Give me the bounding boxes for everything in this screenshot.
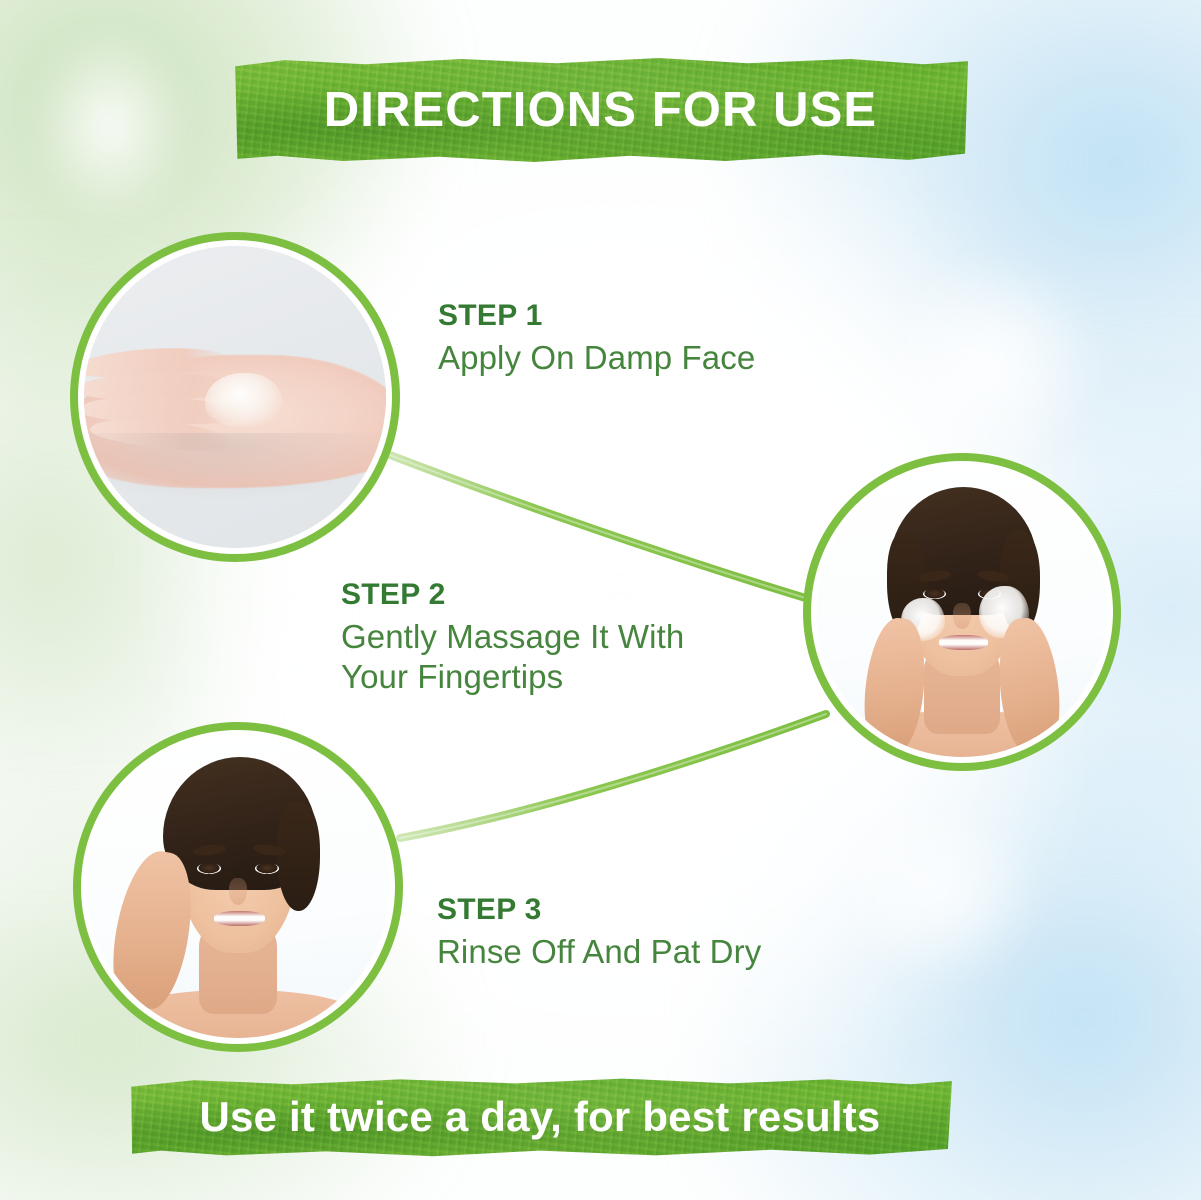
massage-photo bbox=[817, 467, 1107, 757]
palm-shadow bbox=[84, 433, 386, 499]
wash-white-speck-b bbox=[871, 250, 1111, 480]
clean-face-photo bbox=[87, 736, 389, 1038]
nose bbox=[229, 878, 247, 905]
mouth bbox=[939, 635, 988, 650]
eye-right bbox=[255, 863, 279, 874]
footer-note: Use it twice a day, for best results bbox=[200, 1093, 881, 1141]
infographic-canvas: DIRECTIONS FOR USE STEP 1 Apply On Damp … bbox=[0, 0, 1201, 1200]
step-1-image-inner bbox=[84, 246, 386, 548]
step-1-text-block: STEP 1 Apply On Damp Face bbox=[438, 299, 755, 378]
step-3-description: Rinse Off And Pat Dry bbox=[437, 932, 761, 972]
step-2-description: Gently Massage It With Your Fingertips bbox=[341, 617, 684, 698]
connector-step2-to-step3-highlight bbox=[400, 714, 826, 838]
step-2-text-block: STEP 2 Gently Massage It With Your Finge… bbox=[341, 578, 684, 697]
step-1-image bbox=[70, 232, 400, 562]
nose bbox=[953, 603, 970, 629]
step-1-description: Apply On Damp Face bbox=[438, 338, 755, 378]
footer-banner: Use it twice a day, for best results bbox=[128, 1077, 952, 1157]
hair-right-side bbox=[277, 802, 319, 911]
step-1-label: STEP 1 bbox=[438, 299, 755, 334]
step-2-image bbox=[803, 453, 1121, 771]
wash-white-speck-a bbox=[25, 20, 195, 230]
step-3-image bbox=[73, 722, 403, 1052]
step-2-label: STEP 2 bbox=[341, 578, 684, 613]
mouth bbox=[214, 911, 265, 926]
step-3-text-block: STEP 3 Rinse Off And Pat Dry bbox=[437, 893, 761, 972]
palm-photo bbox=[84, 246, 386, 548]
wash-white-speck-c bbox=[821, 790, 1051, 990]
eye-left bbox=[197, 863, 221, 874]
step-3-label: STEP 3 bbox=[437, 893, 761, 928]
page-title: DIRECTIONS FOR USE bbox=[324, 82, 877, 138]
header-banner: DIRECTIONS FOR USE bbox=[233, 58, 968, 162]
cleanser-blob bbox=[205, 373, 284, 427]
step-3-image-inner bbox=[87, 736, 389, 1038]
connector-step2-to-step3 bbox=[400, 714, 826, 838]
step-2-image-inner bbox=[817, 467, 1107, 757]
